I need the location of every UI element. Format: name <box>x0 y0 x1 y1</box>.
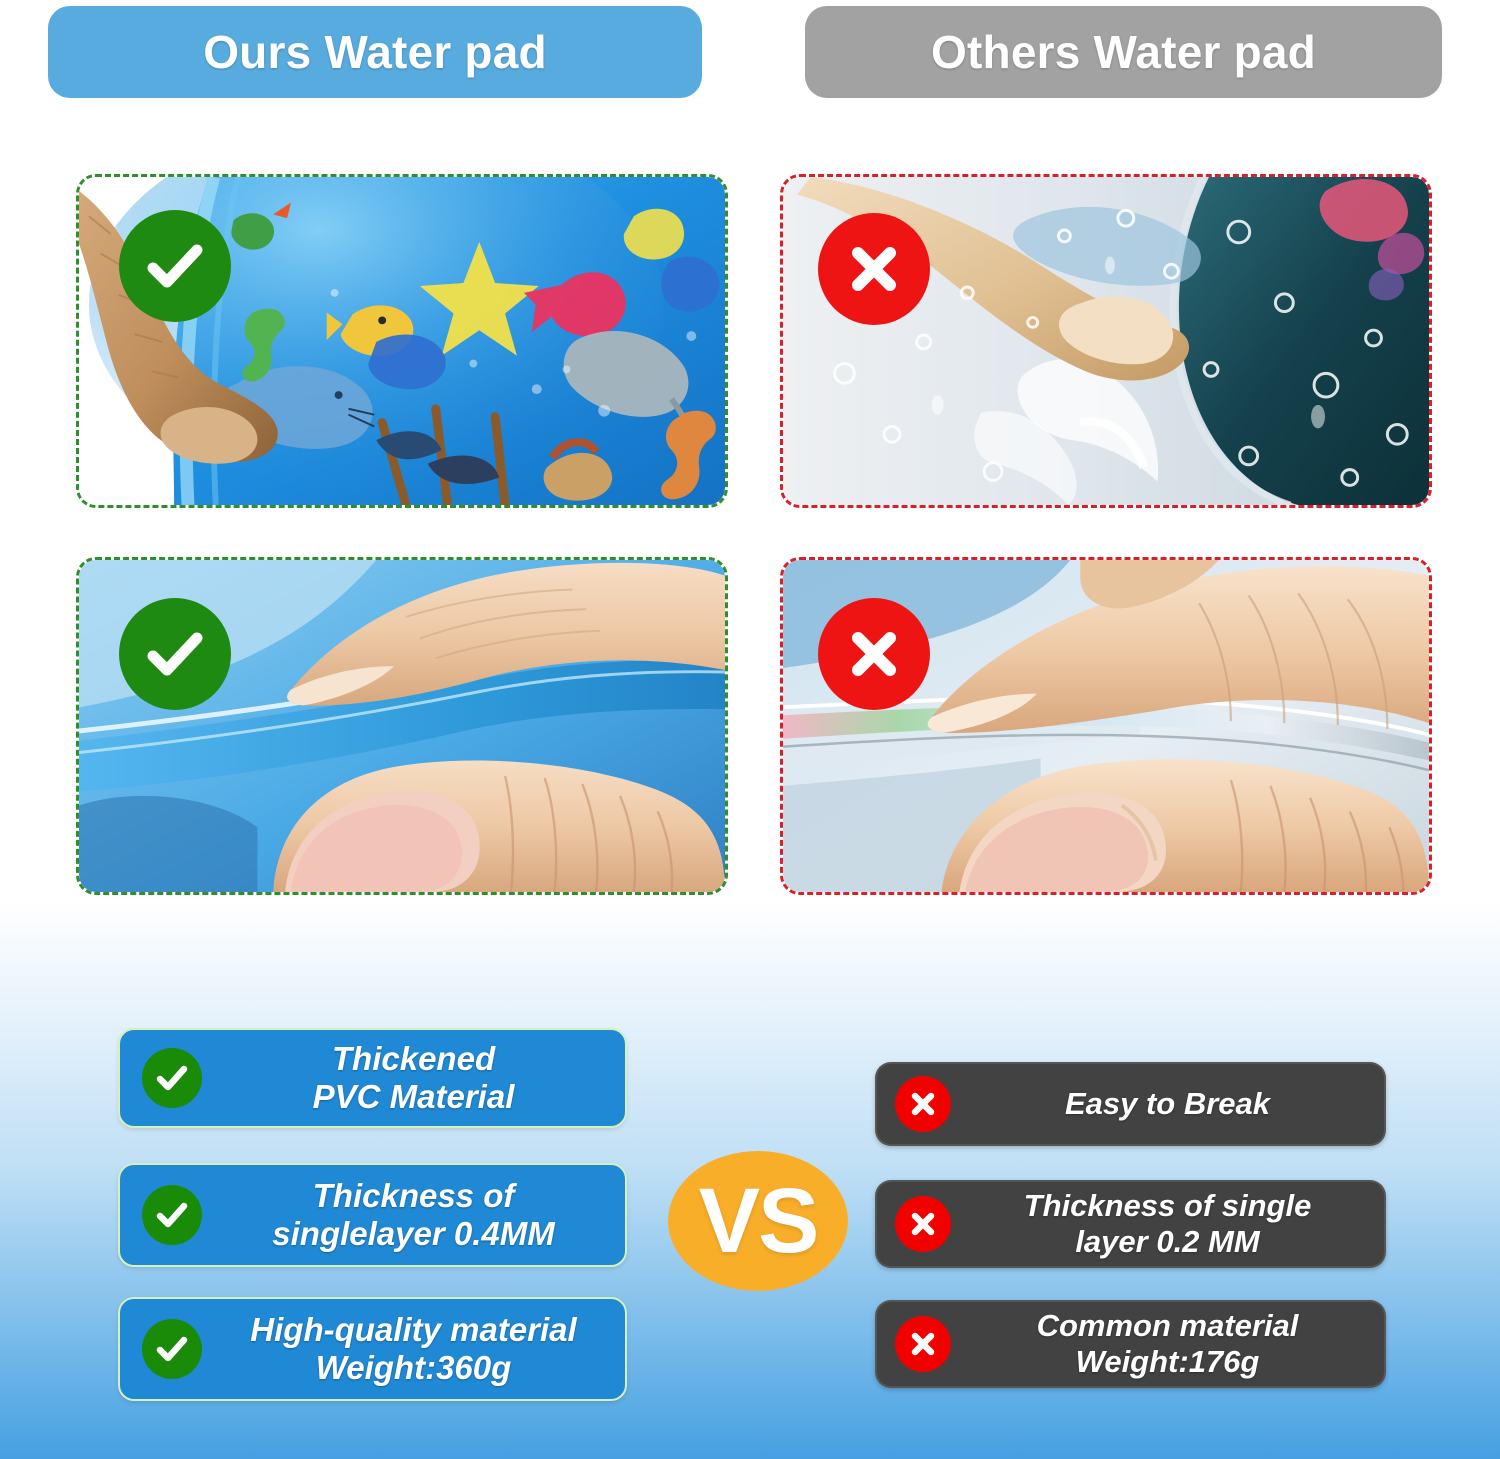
feature-text-others-1: Easy to Break <box>951 1086 1384 1122</box>
check-glyph <box>139 618 211 690</box>
cross-icon <box>895 1196 951 1252</box>
check-icon <box>142 1185 202 1245</box>
header-badge-ours: Ours Water pad <box>48 6 702 98</box>
feature-text-ours-3: High-quality material Weight:360g <box>202 1311 625 1388</box>
cross-icon <box>818 598 930 710</box>
cross-icon <box>818 213 930 325</box>
check-icon <box>119 210 231 322</box>
vs-badge: VS <box>668 1151 848 1291</box>
check-icon <box>119 598 231 710</box>
cross-glyph <box>905 1326 941 1362</box>
cross-icon <box>895 1316 951 1372</box>
cross-glyph <box>838 618 910 690</box>
feature-text-ours-2: Thickness of singlelayer 0.4MM <box>202 1177 625 1254</box>
check-glyph <box>152 1329 192 1369</box>
feature-pill-ours-1: Thickened PVC Material <box>118 1028 627 1128</box>
header-label-others: Others Water pad <box>931 25 1316 79</box>
cross-icon <box>895 1076 951 1132</box>
vs-label: VS <box>699 1169 818 1274</box>
check-glyph <box>152 1058 192 1098</box>
feature-text-ours-1: Thickened PVC Material <box>202 1040 625 1117</box>
feature-text-others-3: Common material Weight:176g <box>951 1308 1384 1380</box>
feature-pill-others-3: Common material Weight:176g <box>875 1300 1386 1388</box>
cross-glyph <box>838 233 910 305</box>
feature-pill-others-2: Thickness of single layer 0.2 MM <box>875 1180 1386 1268</box>
cross-glyph <box>905 1086 941 1122</box>
feature-pill-others-1: Easy to Break <box>875 1062 1386 1146</box>
feature-text-others-2: Thickness of single layer 0.2 MM <box>951 1188 1384 1260</box>
feature-pill-ours-3: High-quality material Weight:360g <box>118 1297 627 1401</box>
feature-pill-ours-2: Thickness of singlelayer 0.4MM <box>118 1163 627 1267</box>
check-glyph <box>139 230 211 302</box>
comparison-infographic: Ours Water pad Others Water pad <box>0 0 1500 1459</box>
header-label-ours: Ours Water pad <box>203 25 547 79</box>
check-icon <box>142 1319 202 1379</box>
check-icon <box>142 1048 202 1108</box>
check-glyph <box>152 1195 192 1235</box>
header-badge-others: Others Water pad <box>805 6 1442 98</box>
cross-glyph <box>905 1206 941 1242</box>
